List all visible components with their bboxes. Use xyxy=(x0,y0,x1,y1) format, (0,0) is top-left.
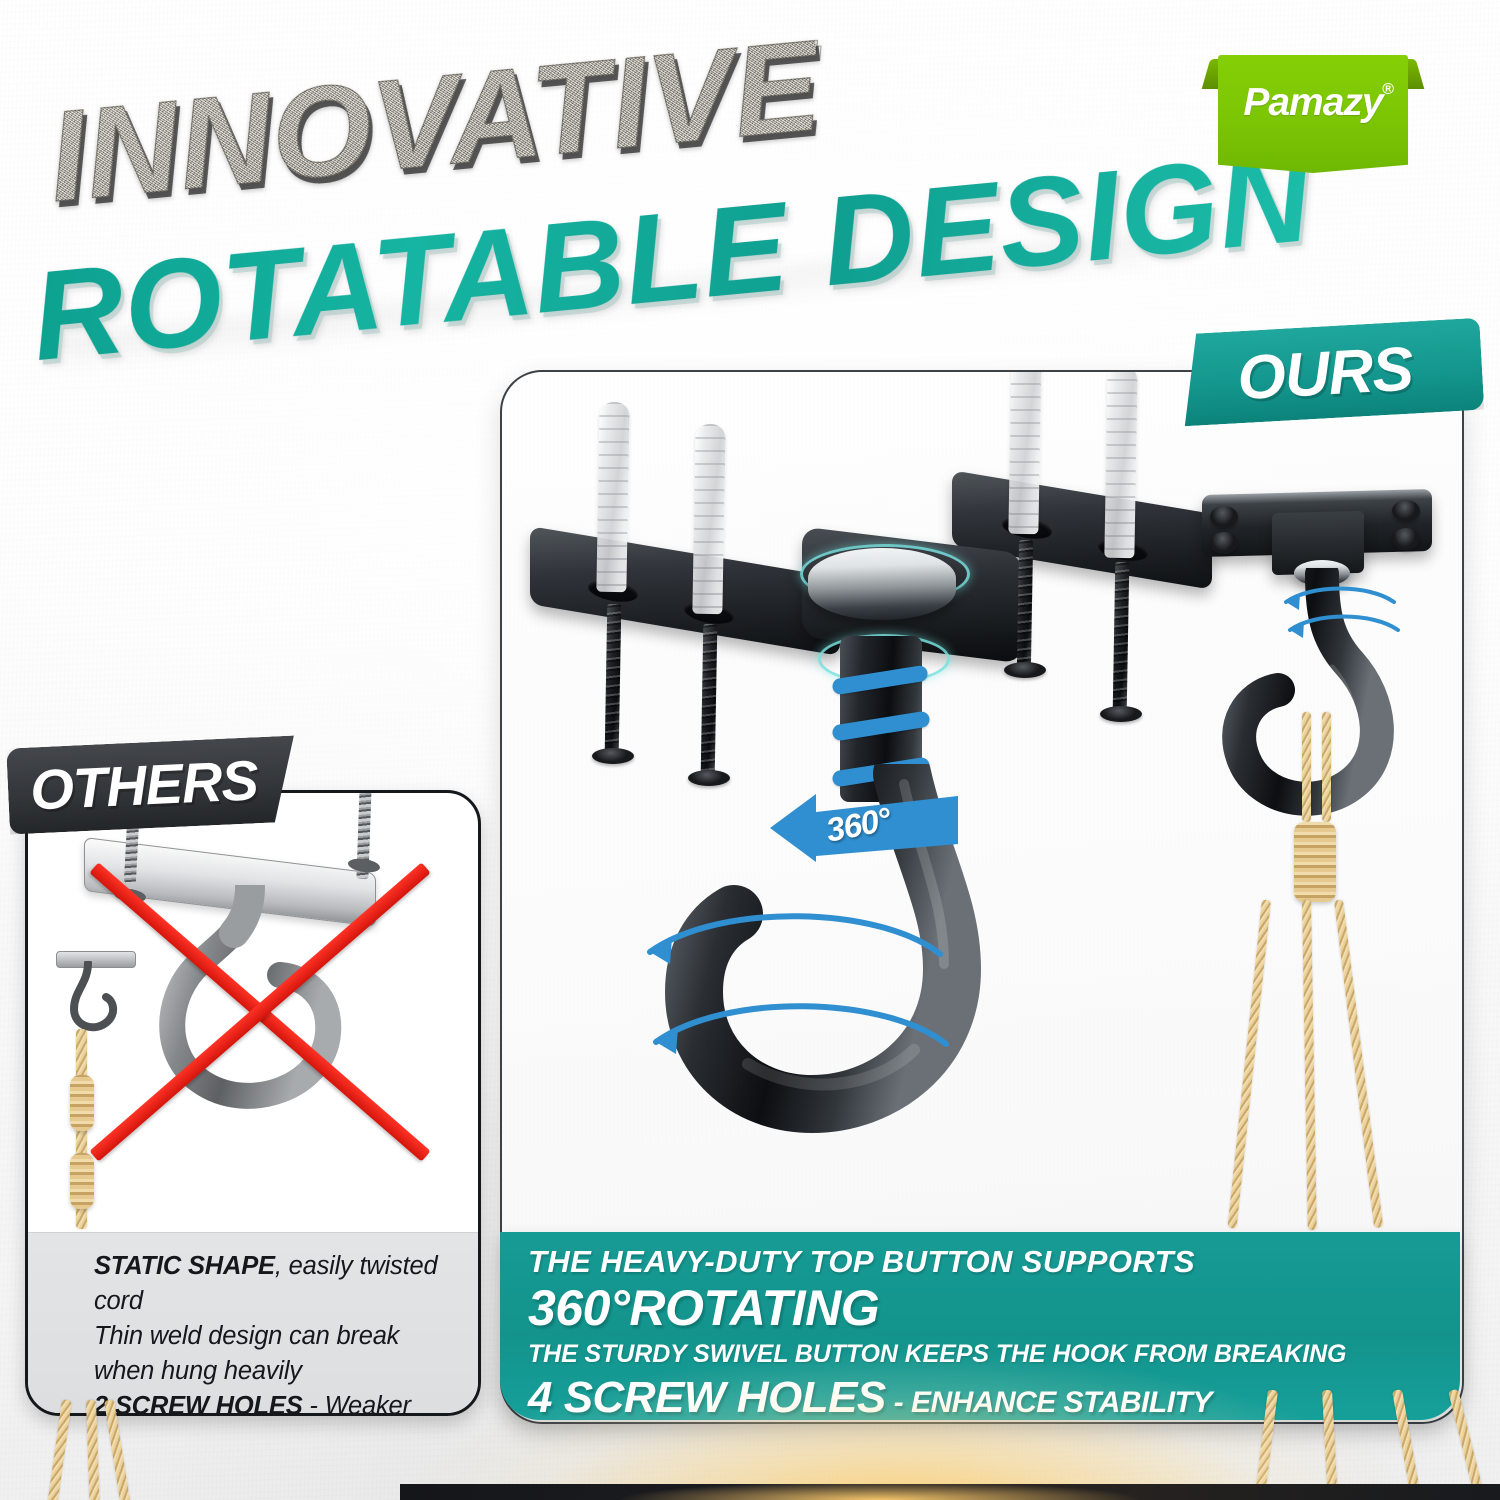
rope-strand-top-b xyxy=(1322,712,1331,822)
others-caption-line-1-bold: STATIC SHAPE xyxy=(94,1252,275,1280)
bottom-bar-highlight xyxy=(620,1484,1140,1500)
screw-shaft-3 xyxy=(1017,540,1033,668)
wall-anchor-2 xyxy=(692,424,725,614)
installed-screw-head-2 xyxy=(1210,532,1238,554)
rope-strand-top-a xyxy=(1302,712,1311,822)
screw-shaft-2 xyxy=(701,624,718,776)
wall-anchor-3 xyxy=(1008,370,1041,534)
installed-screw-head-3 xyxy=(1392,500,1420,522)
ours-caption-line-1: THE HEAVY-DUTY TOP BUTTON SUPPORTS xyxy=(528,1242,1440,1282)
competitor-rope-knot-2 xyxy=(70,1153,94,1209)
brand-logo: Pamazy ® xyxy=(1218,55,1408,173)
screw-head-1 xyxy=(592,748,634,764)
installed-rotation-arrows xyxy=(1272,572,1432,672)
installed-screw-head-4 xyxy=(1392,528,1420,550)
registered-trademark-icon: ® xyxy=(1382,81,1394,99)
headline-block: INNOVATIVE ROTATABLE DESIGN xyxy=(0,22,1180,322)
wall-anchor-1 xyxy=(596,402,629,592)
installed-screw-head-1 xyxy=(1210,506,1238,528)
others-caption-line-4-bold: 2 SCREW HOLES xyxy=(94,1392,303,1416)
screw-shaft-1 xyxy=(605,604,622,754)
rotation-360-callout: 360° xyxy=(770,786,960,864)
others-badge: OTHERS xyxy=(6,736,298,835)
competitor-rope-knot-1 xyxy=(70,1075,94,1131)
bottom-warm-glow xyxy=(330,1300,1440,1500)
wall-anchor-4 xyxy=(1104,370,1137,558)
rotation-swirl-arrows xyxy=(610,892,1030,1122)
logo-wordmark: Pamazy xyxy=(1218,81,1408,125)
ours-badge: OURS xyxy=(1180,318,1485,427)
rope-knot xyxy=(1294,822,1336,902)
screw-shaft-4 xyxy=(1113,562,1130,712)
screw-head-3 xyxy=(1004,662,1046,678)
others-badge-label: OTHERS xyxy=(17,747,272,823)
screw-head-4 xyxy=(1100,706,1142,722)
swivel-button xyxy=(808,548,956,620)
ours-badge-label: OURS xyxy=(1180,330,1470,417)
infographic-canvas: INNOVATIVE ROTATABLE DESIGN Pamazy ® xyxy=(0,0,1500,1500)
